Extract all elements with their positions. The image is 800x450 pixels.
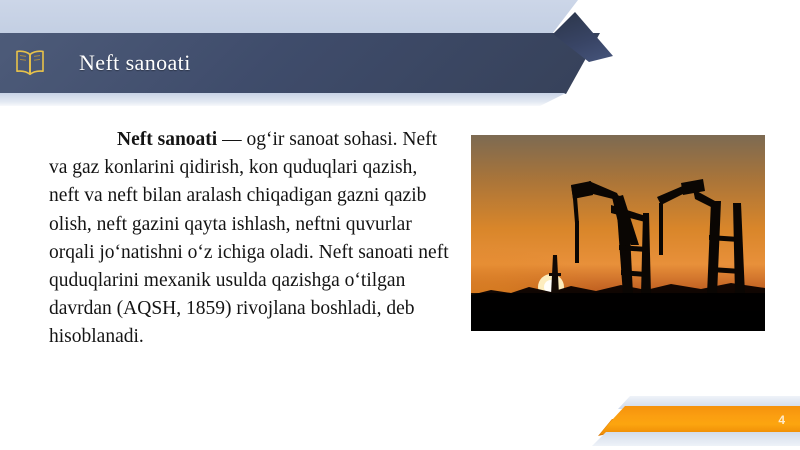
body-rest-text: — og‘ir sanoat sohasi. Neft va gaz konla… xyxy=(49,129,449,347)
slide-canvas: Neft sanoati Neft sanoati — og‘ir sanoat… xyxy=(0,0,800,450)
slide-image-pumpjacks xyxy=(471,135,765,331)
footer-orange-bar xyxy=(600,406,800,434)
header-band-top xyxy=(0,0,578,34)
page-title: Neft sanoati xyxy=(79,48,191,78)
header-band-bottom xyxy=(0,93,566,106)
body-paragraph: Neft sanoati — og‘ir sanoat sohasi. Neft… xyxy=(49,126,451,352)
footer-band-bottom xyxy=(592,432,800,446)
slide-number: 4 xyxy=(778,410,785,430)
body-lead-term: Neft sanoati xyxy=(117,129,217,150)
open-book-icon xyxy=(13,48,47,78)
